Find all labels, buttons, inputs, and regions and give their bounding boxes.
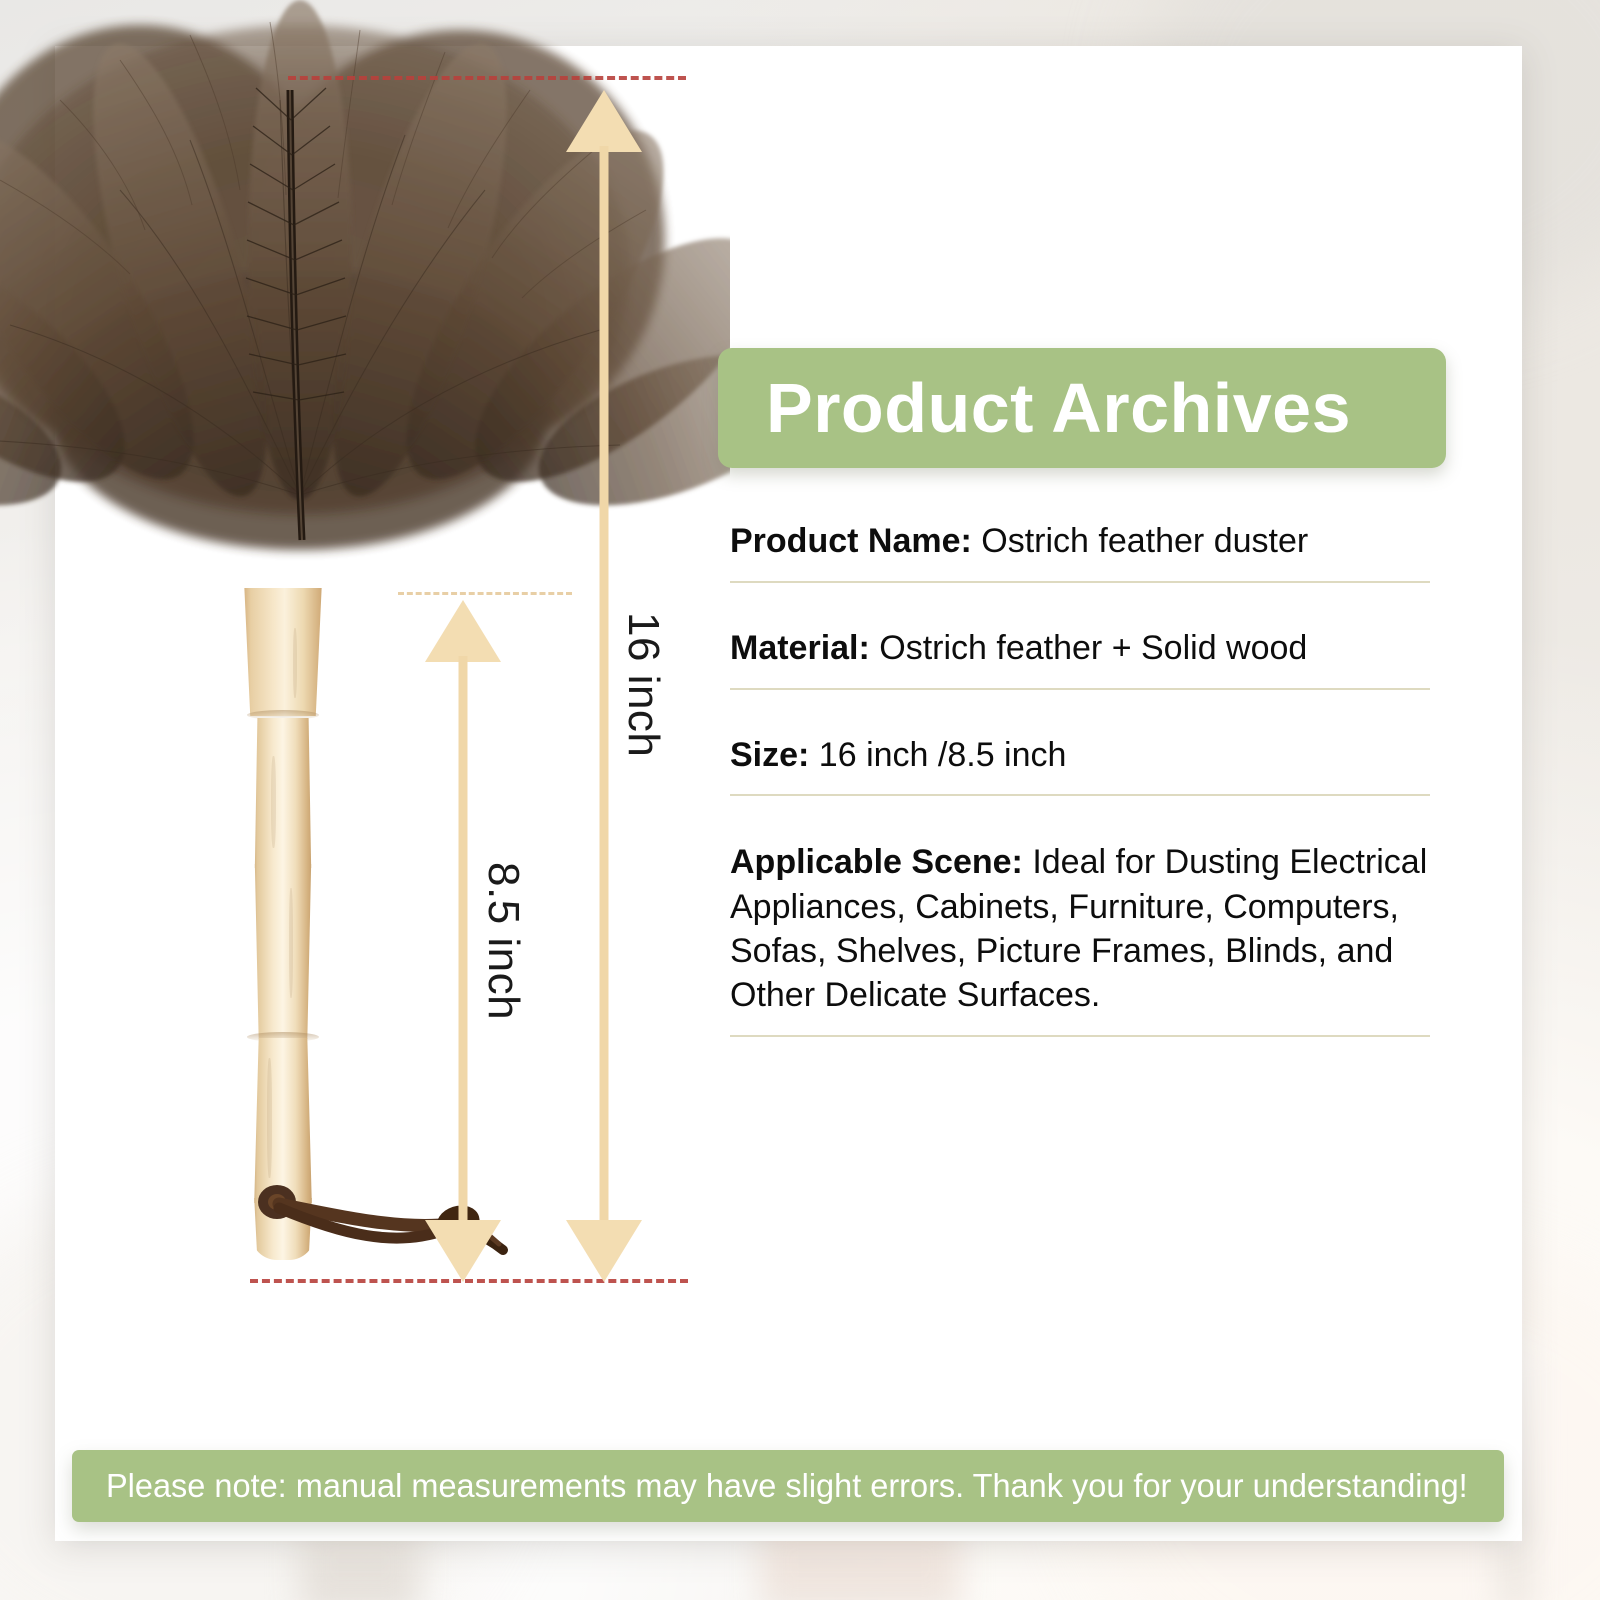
infographic-canvas: 16 inch 8.5 inch Product Archives Produc… xyxy=(0,0,1600,1600)
spec-line: Material: Ostrich feather + Solid wood xyxy=(730,627,1430,670)
spec-line: Size: 16 inch /8.5 inch xyxy=(730,734,1430,777)
spec-line: Product Name: Ostrich feather duster xyxy=(730,520,1430,563)
spec-row-material: Material: Ostrich feather + Solid wood xyxy=(730,627,1430,690)
spec-key: Applicable Scene: xyxy=(730,843,1023,881)
spec-row-applicable-scene: Applicable Scene: Ideal for Dusting Elec… xyxy=(730,840,1430,1037)
spec-value: Ostrich feather duster xyxy=(972,522,1308,560)
dimension-label-16-inch: 16 inch xyxy=(618,612,668,757)
spec-key: Product Name: xyxy=(730,522,972,560)
measurement-disclaimer-banner: Please note: manual measurements may hav… xyxy=(72,1450,1504,1522)
handle-shaft-1 xyxy=(251,718,315,868)
arrow-stem-85 xyxy=(459,656,468,1228)
handle-ferrule xyxy=(241,588,325,716)
spec-row-size: Size: 16 inch /8.5 inch xyxy=(730,734,1430,797)
measurement-disclaimer-text: Please note: manual measurements may hav… xyxy=(106,1467,1468,1505)
spec-key: Size: xyxy=(730,736,809,774)
handle-shaft-2 xyxy=(251,864,315,1039)
dimension-label-8-5-inch: 8.5 inch xyxy=(478,862,528,1020)
spec-row-product-name: Product Name: Ostrich feather duster xyxy=(730,520,1430,583)
arrow-head-down-16 xyxy=(566,1220,642,1282)
arrow-head-up-16 xyxy=(566,90,642,152)
product-archives-title-box: Product Archives xyxy=(718,348,1446,468)
top-guide-dashed-line xyxy=(288,76,686,80)
spec-line: Applicable Scene: Ideal for Dusting Elec… xyxy=(730,840,1430,1017)
arrow-stem-16 xyxy=(600,146,609,1228)
spec-key: Material: xyxy=(730,629,870,667)
spec-value: 16 inch /8.5 inch xyxy=(809,736,1066,774)
arrow-head-up-85 xyxy=(425,600,501,662)
spec-value: Ostrich feather + Solid wood xyxy=(870,629,1308,667)
page-title: Product Archives xyxy=(766,373,1351,443)
arrow-head-down-85 xyxy=(425,1220,501,1282)
wooden-handle xyxy=(245,588,321,1260)
handle-top-guide-dashed-line xyxy=(398,592,572,595)
spec-list: Product Name: Ostrich feather duster Mat… xyxy=(730,520,1430,1037)
